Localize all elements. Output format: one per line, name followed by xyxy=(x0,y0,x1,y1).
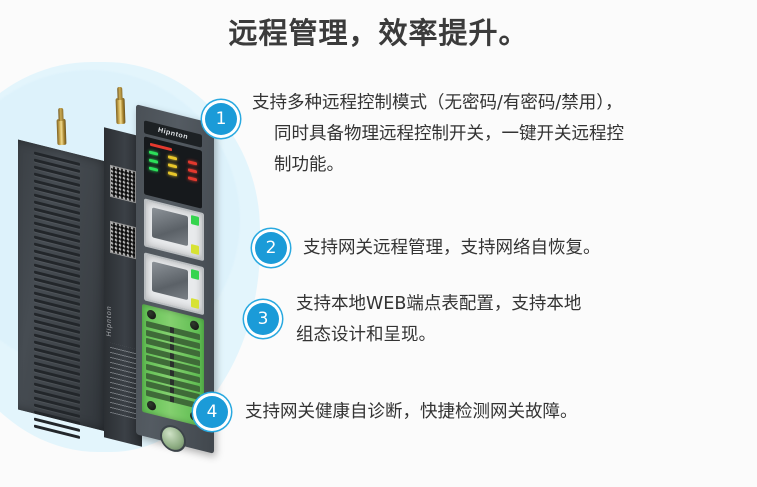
terminal-screw-icon xyxy=(147,400,156,411)
led-indicator-panel xyxy=(144,136,202,208)
led-red-icon xyxy=(188,176,197,181)
feature-text-3: 支持本地WEB端点表配置，支持本地 组态设计和呈现。 xyxy=(296,289,581,351)
feature-text-line: 支持网关健康自诊断，快捷检测网关故障。 xyxy=(245,397,578,428)
led-yellow-icon xyxy=(168,155,177,160)
ventilation-slots xyxy=(34,152,80,413)
feature-text-1: 支持多种远程控制模式（无密码/有密码/禁用）， 同时具备物理远程控制开关，一键开… xyxy=(252,88,742,181)
antenna-icon-right xyxy=(116,98,126,124)
led-red-icon xyxy=(188,160,197,165)
terminal-contacts xyxy=(146,321,200,410)
feature-number-badge-1: 1 xyxy=(205,103,237,135)
led-row-3 xyxy=(144,165,202,182)
ethernet-activity-led-icon xyxy=(191,298,199,309)
ethernet-port-1 xyxy=(144,198,204,261)
feature-text-line: 支持本地WEB端点表配置，支持本地 xyxy=(296,289,581,320)
qr-code-label-top xyxy=(110,165,136,203)
feature-text-line: 组态设计和呈现。 xyxy=(296,320,581,351)
feature-text-4: 支持网关健康自诊断，快捷检测网关故障。 xyxy=(245,397,578,428)
led-yellow-icon xyxy=(168,171,177,176)
feature-text-line: 制功能。 xyxy=(252,150,742,181)
antenna-icon-left xyxy=(57,119,67,145)
feature-text-line: 支持网关远程管理，支持网络自恢复。 xyxy=(303,233,601,264)
feature-number-badge-2: 2 xyxy=(255,232,287,264)
device-reset-button xyxy=(160,422,186,454)
page-title: 远程管理，效率提升。 xyxy=(0,10,757,52)
terminal-screw-icon xyxy=(147,309,156,320)
led-green-icon xyxy=(149,159,158,164)
ethernet-link-led-icon xyxy=(191,269,199,280)
device-side-brand-label: Hipnton xyxy=(106,296,140,344)
led-green-icon xyxy=(149,151,158,156)
feature-number-badge-3: 3 xyxy=(247,303,279,335)
feature-text-line: 支持多种远程控制模式（无密码/有密码/禁用）， xyxy=(252,88,742,119)
feature-text-2: 支持网关远程管理，支持网络自恢复。 xyxy=(303,233,601,264)
ethernet-link-led-icon xyxy=(191,215,199,226)
promo-banner: 远程管理，效率提升。 Hipnton Hipnton xyxy=(0,0,757,487)
terminal-screw-icon xyxy=(190,320,199,331)
led-green-icon xyxy=(149,167,158,172)
gateway-device-image: Hipnton Hipnton xyxy=(18,96,233,451)
qr-code-label-bottom xyxy=(110,221,136,259)
feature-text-line: 同时具备物理远程控制开关，一键开关远程控 xyxy=(252,119,742,150)
device-side-panel xyxy=(18,140,110,433)
device-spec-text xyxy=(110,343,136,419)
led-power-indicator xyxy=(150,143,172,151)
led-red-icon xyxy=(188,168,197,173)
green-terminal-block xyxy=(142,304,204,427)
ethernet-activity-led-icon xyxy=(191,244,199,255)
led-yellow-icon xyxy=(168,163,177,168)
feature-number-badge-4: 4 xyxy=(196,396,228,428)
